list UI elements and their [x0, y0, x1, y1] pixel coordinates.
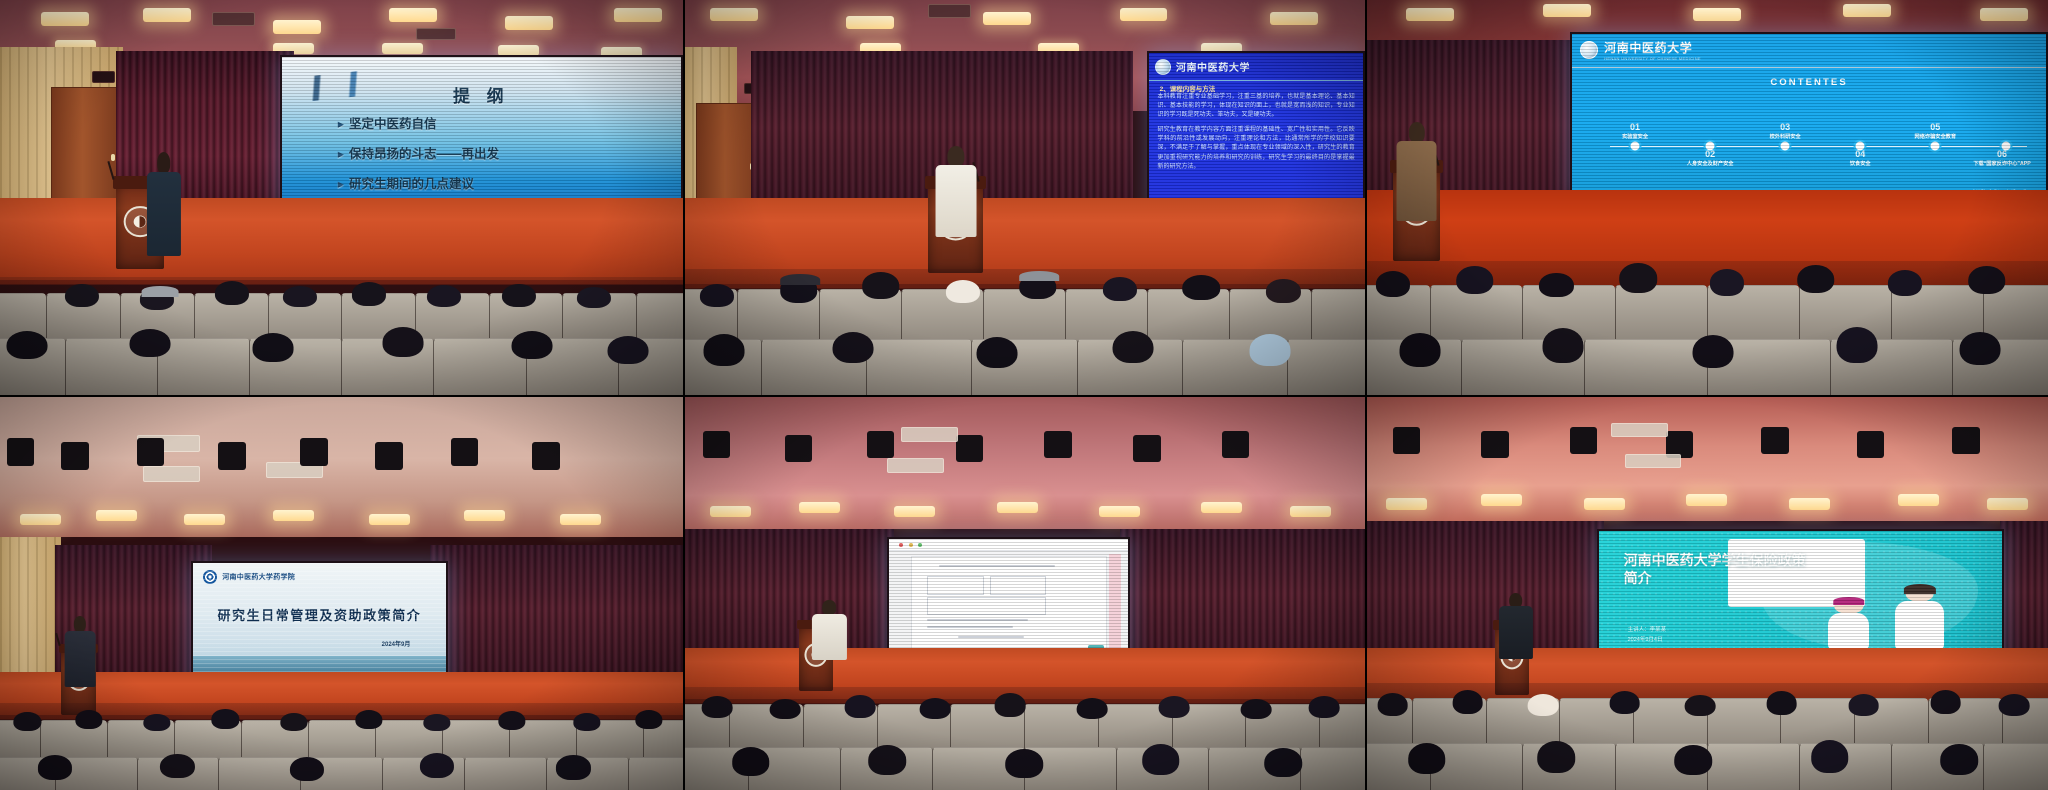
photo-grid: 提 纲 坚定中医药自信 保持昂扬的斗志——再出发 研究生期间的几点建议: [0, 0, 2048, 790]
audience-head: [38, 755, 72, 779]
audience-head: [14, 712, 41, 731]
timeline-node: [1629, 140, 1642, 153]
ceiling-lamp: [1693, 8, 1741, 21]
ceiling-lamp: [1290, 506, 1331, 518]
audience-head: [700, 284, 734, 307]
stage-spotlight: [61, 442, 88, 470]
audience-head: [833, 332, 874, 364]
slide-illustration: [1793, 568, 1962, 649]
ceiling-lamp: [273, 510, 314, 522]
audience-head: [1377, 693, 1408, 716]
slide-date: 2024年9月4日: [1628, 635, 1663, 643]
ceiling-lamp: [710, 8, 758, 21]
timeline-number: 04: [1850, 149, 1871, 159]
grid-divider: [0, 395, 2048, 397]
audience-head: [1959, 332, 2000, 366]
audience-cap: [142, 286, 179, 297]
ceiling-lamp: [464, 510, 505, 522]
timeline-label: 下载“国家反诈中心”APP: [1973, 160, 2030, 167]
audience-head: [1249, 334, 1290, 366]
audience-head: [423, 714, 450, 731]
ceiling-lamp: [983, 12, 1031, 25]
audience-cap: [780, 274, 820, 285]
audience-head: [995, 693, 1026, 717]
slide-paragraph: 研究生教育在教学内容方面注重课程的基础性、宽广性和实用性。它反映学科的前沿性或发…: [1157, 126, 1354, 172]
ceiling-lamp: [498, 45, 539, 55]
audience-head: [160, 754, 194, 778]
stage-spotlight: [785, 435, 812, 463]
ceiling-lamp: [1201, 502, 1242, 514]
document-toolbar: [889, 539, 1128, 551]
audience-head: [1848, 694, 1879, 716]
audience-head: [1684, 695, 1715, 716]
audience-area: [0, 277, 683, 396]
ceiling-lamp: [1987, 498, 2028, 510]
audience-head: [1674, 745, 1712, 775]
audience-head: [1888, 270, 1922, 296]
audience-head: [355, 710, 382, 729]
photo-panel-4: 河南中医药大学药学院 研究生日常管理及资助政策简介 2024年9月: [0, 395, 683, 790]
audience-head: [1710, 269, 1744, 296]
audience-head: [732, 747, 770, 776]
air-vent: [143, 466, 200, 481]
audience-head: [1183, 275, 1221, 300]
stage-spotlight: [1044, 431, 1071, 459]
stage-spotlight: [137, 438, 164, 466]
window-dot: [899, 543, 903, 547]
audience-head: [556, 755, 590, 779]
ceiling-lamp: [997, 502, 1038, 514]
air-vent: [901, 427, 958, 442]
audience-head: [1811, 740, 1849, 773]
slide-bullet: 保持昂扬的斗志——再出发: [338, 143, 657, 162]
audience-head: [1103, 277, 1137, 301]
audience-head: [635, 710, 662, 729]
audience-head: [862, 272, 900, 299]
ceiling-lamp: [1898, 494, 1939, 506]
ceiling-lamp: [710, 506, 751, 518]
audience-head: [1077, 698, 1108, 720]
audience-head: [212, 709, 239, 729]
timeline-number: 01: [1622, 122, 1648, 132]
led-screen: 提 纲 坚定中医药自信 保持昂扬的斗志——再出发 研究生期间的几点建议: [280, 55, 683, 213]
stage-spotlight: [7, 438, 34, 466]
ceiling-lamp: [1980, 8, 2028, 21]
audience-head: [130, 329, 171, 357]
audience-head: [7, 331, 48, 359]
university-seal-icon: [1580, 41, 1598, 59]
ceiling-lamp: [846, 16, 894, 29]
slide-paragraph: 本科教育注重专业基础学习，注重三基的培养，也就是基本理论、基本知识、基本技能的学…: [1157, 93, 1354, 121]
contents-label: CONTENTES: [1572, 77, 2046, 88]
slide-bullet: 坚定中医药自信: [338, 113, 657, 132]
audience-head: [1159, 696, 1190, 719]
ceiling-lamp: [799, 502, 840, 514]
ceiling-lamp: [614, 8, 662, 22]
timeline-item: 05 网络诈骗安全教育: [1915, 122, 1957, 140]
document-page: [911, 556, 1107, 652]
audience-head: [290, 757, 324, 781]
slide-bullet-list: 坚定中医药自信 保持昂扬的斗志——再出发 研究生期间的几点建议: [338, 113, 657, 203]
stage-spotlight: [1481, 431, 1508, 459]
timeline-label: 人身安全及财产安全: [1687, 160, 1734, 167]
slide-header-subtitle: HENAN UNIVERSITY OF CHINESE MEDICINE: [1604, 56, 1701, 61]
audience-head: [577, 287, 611, 308]
ceiling-lamp: [505, 16, 553, 30]
ceiling-lamp: [389, 8, 437, 22]
slide-title: 提 纲: [282, 82, 681, 107]
ceiling-lamp: [1270, 12, 1318, 25]
slide-header-title: 河南中医药大学: [1604, 39, 1701, 56]
audience-head: [215, 281, 249, 305]
led-screen: 河南中医药大学 HENAN UNIVERSITY OF CHINESE MEDI…: [1570, 32, 2048, 202]
audience-head: [382, 327, 423, 357]
timeline-item: 03 校外科研安全: [1770, 122, 1801, 140]
ceiling-lamp: [96, 510, 137, 522]
audience-head: [1265, 748, 1303, 777]
stage-floor: [0, 198, 683, 285]
audience-head: [1142, 744, 1180, 775]
audience-head: [1693, 335, 1734, 369]
audience-head: [920, 698, 951, 720]
audience-area: [1365, 683, 2048, 790]
slide-header-text: 河南中医药大学 HENAN UNIVERSITY OF CHINESE MEDI…: [1604, 39, 1701, 61]
audience-head: [976, 337, 1017, 369]
photo-panel-3: 河南中医药大学 HENAN UNIVERSITY OF CHINESE MEDI…: [1365, 0, 2048, 395]
stage-spotlight: [300, 438, 327, 466]
audience-head: [498, 711, 525, 730]
audience-head: [573, 713, 600, 731]
ceiling-lamp: [184, 514, 225, 526]
air-vent: [928, 4, 971, 18]
audience-head: [1241, 699, 1272, 720]
speaker-person: [812, 600, 846, 655]
exit-sign: [92, 71, 114, 82]
air-vent: [416, 28, 456, 40]
timeline-node: [1929, 140, 1942, 153]
air-vent: [212, 12, 255, 26]
audience-area: [1365, 261, 2048, 395]
audience-head: [1005, 749, 1043, 778]
speaker-person: [935, 146, 976, 233]
stage-curtain: [430, 545, 683, 687]
audience-head: [280, 713, 307, 731]
ceiling-lamp: [1686, 494, 1727, 506]
slide-bullet: 研究生期间的几点建议: [338, 173, 657, 192]
led-screen: 河南中医药大学 2、课程内容与方法 本科教育注重专业基础学习，注重三基的培养，也…: [1147, 51, 1365, 213]
stage-spotlight: [218, 442, 245, 470]
slide-title: 河南中医药大学学生保险政策简介: [1624, 552, 1817, 587]
air-vent: [887, 458, 944, 473]
stage-spotlight: [1393, 427, 1420, 455]
audience-head: [1266, 279, 1300, 303]
audience-head: [945, 280, 979, 303]
ceiling-lamp: [1584, 498, 1625, 510]
audience-head: [770, 699, 801, 720]
stage-spotlight: [1857, 431, 1884, 459]
audience-head: [608, 336, 649, 364]
ceiling-lamp: [1386, 498, 1427, 510]
audience-head: [143, 714, 170, 731]
air-vent: [1625, 454, 1682, 468]
audience-head: [1999, 694, 2030, 716]
audience-head: [1309, 696, 1340, 719]
audience-head: [1930, 690, 1961, 715]
timeline-item: 02 人身安全及财产安全: [1687, 149, 1734, 167]
speaker-person: [1498, 593, 1532, 656]
led-screen: [887, 537, 1130, 663]
audience-head: [283, 286, 317, 307]
led-screen: 河南中医药大学学生保险政策简介 主讲人：李某某 2024年9月4日: [1597, 529, 2004, 663]
stage-spotlight: [1952, 427, 1979, 455]
window-dot: [918, 543, 922, 547]
audience-head: [420, 753, 454, 778]
university-seal-icon: [1155, 59, 1171, 75]
audience-head: [502, 284, 536, 308]
slide-header: 河南中医药大学: [1149, 53, 1363, 81]
audience-head: [1408, 743, 1446, 774]
stage-spotlight: [451, 438, 478, 466]
audience-head: [65, 284, 99, 308]
audience-head: [1538, 741, 1576, 773]
air-vent: [1611, 423, 1668, 438]
ceiling-lamp: [382, 43, 423, 53]
ceiling-lamp: [1099, 506, 1140, 518]
slide-header-title: 河南中医药大学: [1176, 59, 1250, 74]
stage-spotlight: [956, 435, 983, 463]
audience-head: [75, 710, 102, 729]
photo-panel-2: 河南中医药大学 2、课程内容与方法 本科教育注重专业基础学习，注重三基的培养，也…: [683, 0, 1366, 395]
slide-header: 河南中医药大学 HENAN UNIVERSITY OF CHINESE MEDI…: [1572, 34, 2046, 68]
audience-head: [1452, 690, 1483, 715]
ceiling-lamp: [560, 514, 601, 526]
audience-head: [1539, 273, 1573, 297]
timeline-item: 06 下载“国家反诈中心”APP: [1973, 149, 2030, 167]
audience-head: [1766, 691, 1797, 716]
slide-body: 本科教育注重专业基础学习，注重三基的培养，也就是基本理论、基本知识、基本技能的学…: [1157, 93, 1354, 177]
audience-head: [1456, 266, 1494, 294]
audience-cap: [1019, 271, 1059, 281]
timeline-label: 校外科研安全: [1770, 133, 1801, 140]
document-sidebar: [1109, 554, 1121, 650]
audience-head: [845, 695, 876, 719]
audience-head: [427, 285, 461, 308]
timeline-number: 06: [1973, 149, 2030, 159]
timeline-node: [1779, 140, 1792, 153]
ceiling-lamp: [20, 514, 61, 526]
audience-head: [1543, 328, 1584, 363]
wood-wall: [0, 537, 61, 671]
timeline-item: 01 实验室安全: [1622, 122, 1648, 140]
ceiling-lamp: [1406, 8, 1454, 21]
stage-spotlight: [867, 431, 894, 459]
timeline-number: 02: [1687, 149, 1734, 159]
audience-head: [1609, 691, 1640, 714]
audience-head: [1113, 331, 1154, 364]
timeline-item: 04 饮食安全: [1850, 149, 1871, 167]
audience-area: [683, 269, 1366, 395]
audience-head: [512, 331, 553, 359]
ceiling-lamp: [273, 20, 321, 34]
audience-head: [1620, 263, 1658, 293]
contents-timeline: 01 实验室安全 02 人身安全及财产安全 03 校外科研安全 04 饮食安全 …: [1610, 107, 2027, 183]
timeline-number: 05: [1915, 122, 1957, 132]
ceiling-lamp: [894, 506, 935, 518]
ceiling-lamp: [143, 8, 191, 22]
photo-panel-6: 河南中医药大学学生保险政策简介 主讲人：李某某 2024年9月4日: [1365, 395, 2048, 790]
ceiling-lamp: [1789, 498, 1830, 510]
ceiling-lamp: [1543, 4, 1591, 17]
audience-head: [1968, 266, 2006, 294]
stage-spotlight: [1133, 435, 1160, 463]
audience-head: [1797, 265, 1835, 293]
audience-head: [1399, 333, 1440, 367]
stage-spotlight: [1570, 427, 1597, 455]
audience-area: [0, 703, 683, 790]
audience-head: [869, 745, 907, 775]
timeline-axis: [1610, 146, 2027, 147]
audience-area: [683, 687, 1366, 790]
audience-head: [352, 282, 386, 306]
audience-head: [1836, 327, 1877, 363]
audience-head: [1376, 271, 1410, 297]
timeline-label: 饮食安全: [1850, 160, 1871, 167]
speaker-person: [1396, 122, 1437, 217]
audience-head: [1940, 744, 1978, 775]
timeline-label: 网络诈骗安全教育: [1915, 133, 1957, 140]
photo-panel-5: [683, 395, 1366, 790]
stage-door: [51, 87, 121, 215]
audience-head: [253, 333, 294, 361]
ceiling-lamp: [1120, 8, 1168, 21]
audience-head: [701, 696, 732, 719]
window-dot: [909, 543, 913, 547]
stage-spotlight: [1222, 431, 1249, 459]
stage-spotlight: [375, 442, 402, 470]
ceiling-lamp: [1843, 4, 1891, 17]
stage-spotlight: [532, 442, 559, 470]
timeline-number: 03: [1770, 122, 1801, 132]
ceiling-lamp: [369, 514, 410, 526]
stage-spotlight: [703, 431, 730, 459]
speaker-person: [65, 616, 96, 683]
stage-spotlight: [1761, 427, 1788, 455]
audience-head: [1527, 694, 1558, 716]
audience-head: [703, 334, 744, 366]
screen-scanlines: [193, 563, 446, 689]
photo-panel-1: 提 纲 坚定中医药自信 保持昂扬的斗志——再出发 研究生期间的几点建议: [0, 0, 683, 395]
seat-row: [0, 338, 683, 395]
slide-subtitle: 主讲人：李某某: [1628, 625, 1667, 633]
ceiling-lamp: [41, 12, 89, 26]
timeline-label: 实验室安全: [1622, 133, 1648, 140]
ceiling-lamp: [1481, 494, 1522, 506]
speaker-person: [147, 152, 181, 255]
